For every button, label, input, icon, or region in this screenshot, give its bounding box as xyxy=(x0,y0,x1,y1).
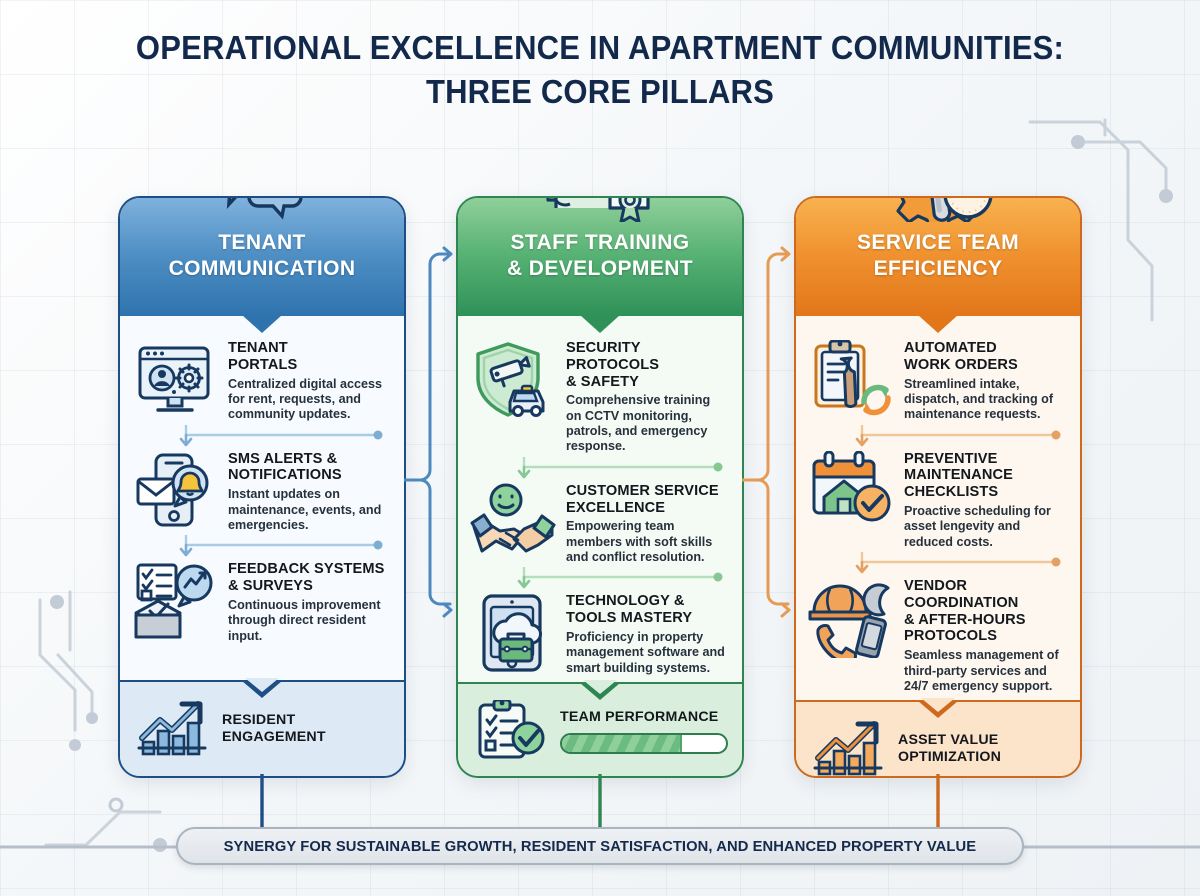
infographic-canvas: OPERATIONAL EXCELLENCE IN APARTMENT COMM… xyxy=(0,0,1200,896)
pillar-3-header-line-2: EFFICIENCY xyxy=(857,256,1019,282)
list-item-heading: SECURITY PROTOCOLS & SAFETY xyxy=(566,340,726,390)
pillar-2-header-line-2: & DEVELOPMENT xyxy=(507,256,693,282)
pillar-1-footer[interactable]: RESIDENT ENGAGEMENT xyxy=(120,680,404,776)
clipboard-check-icon xyxy=(472,700,548,762)
phone-envelope-bell-icon xyxy=(132,451,218,531)
pillar-3-footer[interactable]: ASSET VALUE OPTIMIZATION xyxy=(796,700,1080,778)
heading-line-1: CUSTOMER SERVICE xyxy=(566,483,726,500)
list-item[interactable]: SECURITY PROTOCOLS & SAFETY Comprehensiv… xyxy=(470,338,726,455)
item-separator xyxy=(132,535,388,557)
heading-line-2: PORTALS xyxy=(228,357,388,374)
list-item-heading: TECHNOLOGY & TOOLS MASTERY xyxy=(566,593,726,627)
growth-bar-chart-arrow-icon xyxy=(134,698,210,760)
heading-line-2: TOOLS MASTERY xyxy=(566,610,726,627)
list-item-body: Seamless management of third-party servi… xyxy=(904,648,1064,694)
pillar-3-header-line-1: SERVICE TEAM xyxy=(857,230,1019,256)
head-lightbulb-certificate-icon xyxy=(534,196,666,222)
list-item[interactable]: SMS ALERTS & NOTIFICATIONS Instant updat… xyxy=(132,449,388,534)
connector-pillar2-to-pillar3 xyxy=(742,222,798,634)
list-item-body: Centralized digital access for rent, req… xyxy=(228,377,388,423)
pillar-tenant-communication[interactable]: TENANT COMMUNICATION xyxy=(118,196,406,778)
list-item-body: Continuous improvement through direct re… xyxy=(228,598,388,644)
team-performance-progress-fill xyxy=(562,735,682,752)
speech-bubbles-wifi-icon xyxy=(196,196,328,222)
list-item[interactable]: TECHNOLOGY & TOOLS MASTERY Proficiency i… xyxy=(470,591,726,676)
list-item-heading: PREVENTIVE MAINTENANCE CHECKLISTS xyxy=(904,451,1064,501)
item-separator xyxy=(808,425,1064,447)
heading-line-2: NOTIFICATIONS xyxy=(228,467,388,484)
list-item-text: CUSTOMER SERVICE EXCELLENCE Empowering t… xyxy=(566,481,726,566)
item-separator xyxy=(808,552,1064,574)
page-title: OPERATIONAL EXCELLENCE IN APARTMENT COMM… xyxy=(36,26,1164,113)
heading-line-1: FEEDBACK SYSTEMS xyxy=(228,561,388,578)
list-item-heading: SMS ALERTS & NOTIFICATIONS xyxy=(228,451,388,485)
pillar-3-items: AUTOMATED WORK ORDERS Streamlined intake… xyxy=(796,316,1080,700)
heading-line-3: CHECKLISTS xyxy=(904,484,1064,501)
pillar-1-items: TENANT PORTALS Centralized digital acces… xyxy=(120,316,404,680)
heading-line-1: SMS ALERTS & xyxy=(228,451,388,468)
heading-line-2: WORK ORDERS xyxy=(904,357,1064,374)
heading-line-2: MAINTENANCE xyxy=(904,467,1064,484)
heading-line-2: EXCELLENCE xyxy=(566,500,726,517)
team-performance-block: TEAM PERFORMANCE xyxy=(560,709,728,754)
item-separator xyxy=(470,567,726,589)
pillar-service-team-efficiency[interactable]: SERVICE TEAM EFFICIENCY xyxy=(794,196,1082,778)
calendar-house-check-icon xyxy=(808,451,894,531)
list-item[interactable]: AUTOMATED WORK ORDERS Streamlined intake… xyxy=(808,338,1064,423)
pillar-1-header-line-2: COMMUNICATION xyxy=(169,256,356,282)
list-item-text: AUTOMATED WORK ORDERS Streamlined intake… xyxy=(904,338,1064,423)
hardhat-moon-phone-icon xyxy=(808,578,894,658)
synergy-banner-text: SYNERGY FOR SUSTAINABLE GROWTH, RESIDENT… xyxy=(224,838,977,855)
synergy-banner[interactable]: SYNERGY FOR SUSTAINABLE GROWTH, RESIDENT… xyxy=(176,827,1024,865)
heading-line-3: PROTOCOLS xyxy=(904,628,1064,645)
list-item-text: SMS ALERTS & NOTIFICATIONS Instant updat… xyxy=(228,449,388,534)
pillar-2-header: STAFF TRAINING & DEVELOPMENT xyxy=(458,198,742,316)
list-item-body: Proactive scheduling for asset lengevity… xyxy=(904,504,1064,550)
pillar-3-header: SERVICE TEAM EFFICIENCY xyxy=(796,198,1080,316)
pillar-2-header-line-1: STAFF TRAINING xyxy=(507,230,693,256)
list-item[interactable]: FEEDBACK SYSTEMS & SURVEYS Continuous im… xyxy=(132,559,388,644)
monitor-user-gear-icon xyxy=(132,340,218,420)
footer-label-line-2: OPTIMIZATION xyxy=(898,749,1001,766)
list-item[interactable]: PREVENTIVE MAINTENANCE CHECKLISTS Proact… xyxy=(808,449,1064,550)
heading-line-1: TENANT xyxy=(228,340,388,357)
list-item-heading: TENANT PORTALS xyxy=(228,340,388,374)
pillar-2-footer[interactable]: TEAM PERFORMANCE xyxy=(458,682,742,778)
clipboard-wrench-refresh-icon xyxy=(808,340,894,420)
heading-line-1: SECURITY PROTOCOLS xyxy=(566,340,726,374)
heading-line-1: VENDOR COORDINATION xyxy=(904,578,1064,612)
team-performance-progress xyxy=(560,733,728,754)
handshake-smiley-icon xyxy=(470,483,556,563)
pillar-2-footer-notch xyxy=(580,683,620,700)
connector-pillar1-to-pillar2 xyxy=(404,222,460,634)
list-item-body: Proficiency in property management softw… xyxy=(566,630,726,676)
list-item[interactable]: VENDOR COORDINATION & AFTER-HOURS PROTOC… xyxy=(808,576,1064,694)
footer-label-line-2: ENGAGEMENT xyxy=(222,729,326,746)
list-item-text: VENDOR COORDINATION & AFTER-HOURS PROTOC… xyxy=(904,576,1064,694)
heading-line-1: AUTOMATED xyxy=(904,340,1064,357)
list-item[interactable]: CUSTOMER SERVICE EXCELLENCE Empowering t… xyxy=(470,481,726,566)
shield-cctv-patrolcar-icon xyxy=(470,340,556,420)
pillar-2-items: SECURITY PROTOCOLS & SAFETY Comprehensiv… xyxy=(458,316,742,682)
item-separator xyxy=(132,425,388,447)
pillar-2-footer-label: TEAM PERFORMANCE xyxy=(560,709,728,726)
list-item-text: TENANT PORTALS Centralized digital acces… xyxy=(228,338,388,423)
list-item-body: Empowering team members with soft skills… xyxy=(566,519,726,565)
footer-label-line-1: ASSET VALUE xyxy=(898,732,1001,749)
item-separator xyxy=(470,457,726,479)
tablet-cloud-briefcase-icon xyxy=(470,593,556,673)
page-title-line-2: THREE CORE PILLARS xyxy=(36,70,1164,114)
pillar-1-footer-notch xyxy=(242,681,282,698)
list-item-heading: VENDOR COORDINATION & AFTER-HOURS PROTOC… xyxy=(904,578,1064,645)
footer-label-line-1: RESIDENT xyxy=(222,712,326,729)
pillar-3-footer-label: ASSET VALUE OPTIMIZATION xyxy=(898,732,1001,766)
pillar-1-header-line-1: TENANT xyxy=(169,230,356,256)
list-item-body: Instant updates on maintenance, events, … xyxy=(228,487,388,533)
list-item-heading: AUTOMATED WORK ORDERS xyxy=(904,340,1064,374)
heading-line-1: PREVENTIVE xyxy=(904,451,1064,468)
list-item-text: SECURITY PROTOCOLS & SAFETY Comprehensiv… xyxy=(566,338,726,455)
heading-line-2: & AFTER-HOURS xyxy=(904,612,1064,629)
list-item-text: TECHNOLOGY & TOOLS MASTERY Proficiency i… xyxy=(566,591,726,676)
list-item-body: Streamlined intake, dispatch, and tracki… xyxy=(904,377,1064,423)
pillar-staff-training-development[interactable]: STAFF TRAINING & DEVELOPMENT xyxy=(456,196,744,778)
gear-wrench-clock-icon xyxy=(872,196,1004,222)
list-item-text: PREVENTIVE MAINTENANCE CHECKLISTS Proact… xyxy=(904,449,1064,550)
list-item-body: Comprehensive training on CCTV monitorin… xyxy=(566,393,726,454)
heading-line-1: TECHNOLOGY & xyxy=(566,593,726,610)
list-item-heading: FEEDBACK SYSTEMS & SURVEYS xyxy=(228,561,388,595)
list-item[interactable]: TENANT PORTALS Centralized digital acces… xyxy=(132,338,388,423)
pillar-3-footer-notch xyxy=(918,701,958,718)
page-title-line-1: OPERATIONAL EXCELLENCE IN APARTMENT COMM… xyxy=(36,26,1164,70)
list-item-text: FEEDBACK SYSTEMS & SURVEYS Continuous im… xyxy=(228,559,388,644)
heading-line-2: & SURVEYS xyxy=(228,578,388,595)
list-item-heading: CUSTOMER SERVICE EXCELLENCE xyxy=(566,483,726,517)
ballot-box-checklist-icon xyxy=(132,561,218,641)
pillar-1-footer-label: RESIDENT ENGAGEMENT xyxy=(222,712,326,746)
heading-line-2: & SAFETY xyxy=(566,374,726,391)
pillar-1-header: TENANT COMMUNICATION xyxy=(120,198,404,316)
